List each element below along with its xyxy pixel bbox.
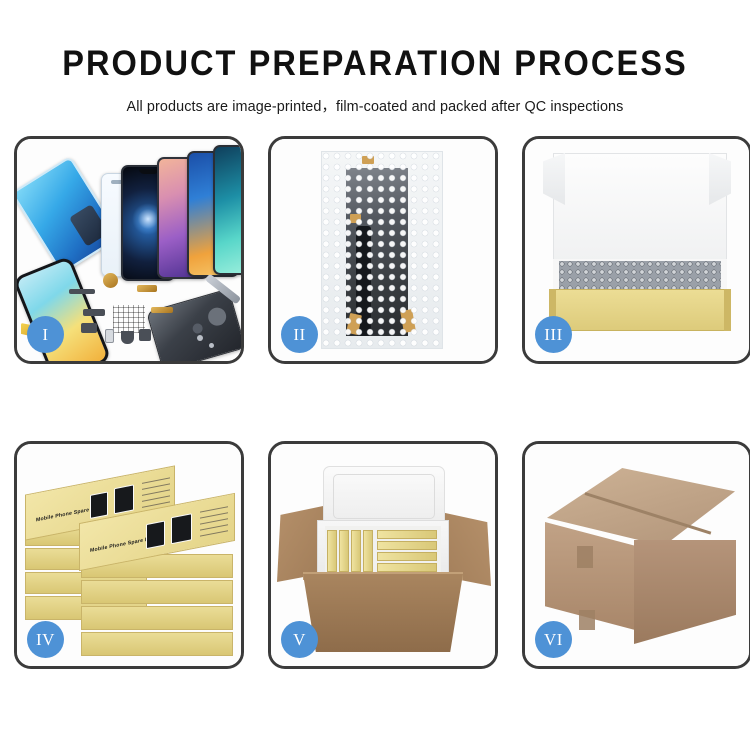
box-phone-image-b2 (171, 513, 192, 544)
step-badge-4: IV (27, 621, 64, 658)
process-step-5: V (268, 441, 498, 669)
foam-box-contents (325, 526, 441, 574)
mailer-box-front-panel (549, 289, 731, 331)
carton-handle-tab-top (577, 546, 593, 568)
step-badge-5: V (281, 621, 318, 658)
page-title: PRODUCT PREPARATION PROCESS (26, 46, 724, 81)
process-step-1: I (14, 136, 244, 364)
part-gold-connector (151, 307, 173, 313)
retail-box-right-3 (81, 606, 233, 630)
phone-teal-display (213, 145, 241, 275)
process-step-4: Mobile Phone Spare Parts Mobile Phone Sp… (14, 441, 244, 669)
page-subtitle: All products are image-printed，film-coat… (0, 95, 750, 116)
carton-body (303, 574, 463, 652)
process-step-2: II (268, 136, 498, 364)
mailer-box-edge-right (724, 289, 731, 331)
packed-box-7 (377, 552, 437, 561)
step-2-image: II (271, 139, 495, 361)
product-preparation-infographic: PRODUCT PREPARATION PROCESS All products… (0, 0, 750, 750)
part-flex-cable-a (83, 309, 105, 316)
step-badge-3: III (535, 316, 572, 353)
box-phone-image-b1 (146, 520, 165, 549)
box-phone-image-a1 (90, 491, 108, 518)
part-sim-tray (105, 329, 114, 343)
step-6-image: VI (525, 444, 749, 666)
bubble-wrap-bag (321, 151, 443, 349)
packed-box-6 (377, 541, 437, 550)
part-bracket-b (81, 323, 97, 333)
header: PRODUCT PREPARATION PROCESS All products… (0, 0, 750, 116)
retail-box-right-2 (81, 580, 233, 604)
part-speaker-coil (103, 273, 118, 288)
retail-box-right-4 (81, 632, 233, 656)
step-5-image: V (271, 444, 495, 666)
step-3-image: III (525, 139, 749, 361)
packed-box-8 (377, 563, 437, 572)
phone-back-housing (146, 288, 241, 361)
step-badge-2: II (281, 316, 318, 353)
foam-box-lid (323, 466, 445, 528)
part-taptic-engine (121, 331, 134, 344)
packed-box-4 (363, 530, 373, 572)
process-step-6: VI (522, 441, 750, 669)
bubble-wrap-contents (559, 261, 721, 291)
step-4-image: Mobile Phone Spare Parts Mobile Phone Sp… (17, 444, 241, 666)
box-phone-image-a2 (114, 484, 134, 514)
mailer-lid-flap-left (543, 153, 565, 205)
carton-handle-tab-bottom (579, 610, 595, 630)
part-gold-bracket (137, 285, 157, 292)
packed-box-1 (327, 530, 337, 572)
mailer-box-lid (553, 153, 727, 263)
packed-box-5 (377, 530, 437, 539)
part-antenna-strip (69, 289, 95, 294)
packed-box-2 (339, 530, 349, 572)
packed-box-3 (351, 530, 361, 572)
part-camera-module (139, 329, 151, 341)
step-badge-1: I (27, 316, 64, 353)
process-step-3: III (522, 136, 750, 364)
mailer-lid-flap-right (709, 153, 731, 205)
part-screw-b (209, 343, 214, 348)
step-badge-6: VI (535, 621, 572, 658)
carton-right-face (634, 540, 736, 644)
bubble-texture (322, 152, 442, 348)
part-screw-a (197, 335, 203, 341)
step-1-image: I (17, 139, 241, 361)
